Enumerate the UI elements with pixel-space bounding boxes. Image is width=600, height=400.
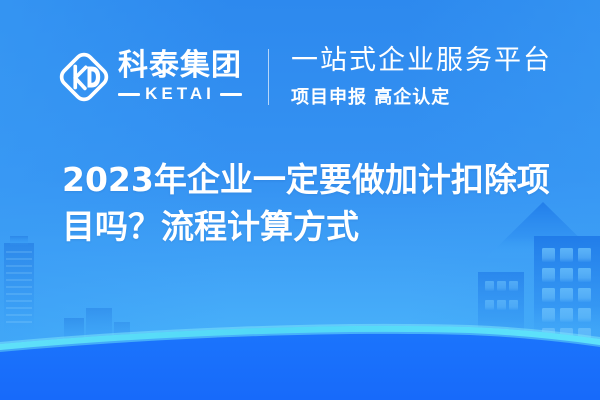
brand-logo[interactable]: 科泰集团 KETAI xyxy=(56,49,242,105)
tagline-block: 一站式企业服务平台 项目申报 高企认定 xyxy=(291,45,552,109)
brand-rule-left xyxy=(118,93,140,96)
brand-wordmark: 科泰集团 KETAI xyxy=(118,50,242,105)
brand-rule-right xyxy=(220,93,242,96)
headline-title: 2023年企业一定要做加计扣除项目吗？流程计算方式 xyxy=(62,157,562,251)
brand-name-cn: 科泰集团 xyxy=(118,50,242,82)
arc-highlight xyxy=(0,329,600,347)
left-skyline xyxy=(4,236,130,350)
header-divider xyxy=(268,49,269,105)
banner-header: 科泰集团 KETAI 一站式企业服务平台 项目申报 高企认定 xyxy=(56,38,552,116)
ground-shape xyxy=(0,334,600,400)
brand-name-en-row: KETAI xyxy=(118,84,242,104)
tagline-secondary: 项目申报 高企认定 xyxy=(291,83,552,109)
ketai-kd-monogram-icon xyxy=(56,49,112,105)
tagline-primary: 一站式企业服务平台 xyxy=(291,45,552,76)
promotional-banner: 科泰集团 KETAI 一站式企业服务平台 项目申报 高企认定 2023年企业一定… xyxy=(0,0,600,400)
brand-name-en: KETAI xyxy=(145,84,215,104)
arc-highlight-soft xyxy=(0,325,600,343)
